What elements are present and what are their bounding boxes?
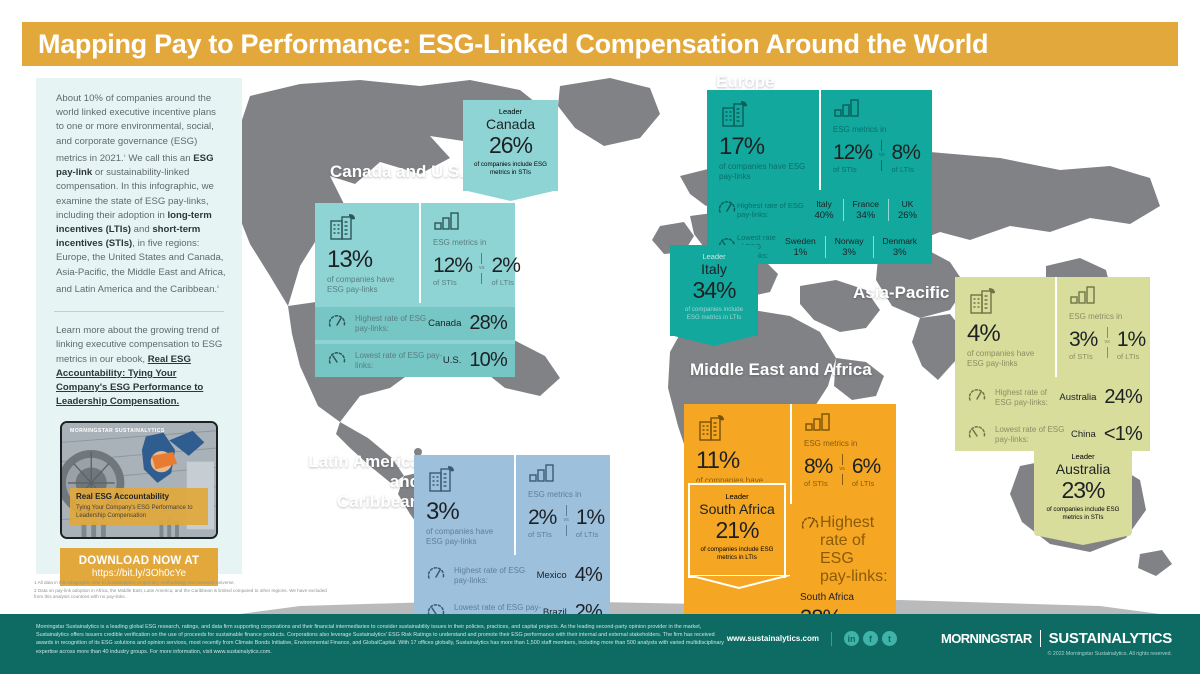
lti-pct: 1% xyxy=(1117,328,1145,351)
vs-line-top xyxy=(1107,327,1108,338)
lti-pct: 6% xyxy=(852,455,880,478)
vs-line-bottom xyxy=(842,474,843,485)
country-value: 3% xyxy=(835,247,864,258)
region-name-asia-pacific: Asia-Pacific xyxy=(853,283,949,302)
leader-country: Italy xyxy=(678,261,750,278)
sidebar-panel: About 10% of companies around the world … xyxy=(36,78,242,574)
lti-label: of LTIs xyxy=(576,530,604,539)
infographic-page: Mapping Pay to Performance: ESG-Linked C… xyxy=(0,0,1200,674)
leader-title: Leader xyxy=(678,252,750,261)
learn-more-text: Learn more about the growing trend of li… xyxy=(56,325,222,364)
vs-text: vs xyxy=(479,264,485,273)
intro-text-2: We call this an xyxy=(126,153,194,164)
lowest-country-item: Denmark 3% xyxy=(873,236,926,258)
vs-text: vs xyxy=(839,465,845,474)
ebook-title: Real ESG Accountability xyxy=(76,492,202,502)
highest-value: 28% xyxy=(469,312,507,335)
metrics-cell: ESG metrics in 8% of STIs vs 6% of LTIs xyxy=(790,404,896,504)
gauge-down-icon xyxy=(967,423,987,446)
highest-country: Mexico xyxy=(537,570,575,581)
vs-line-bottom xyxy=(881,160,882,171)
sti-col: 3% of STIs xyxy=(1069,328,1097,361)
highest-country-item: UK 26% xyxy=(888,199,926,221)
region-name-middle-east-africa: Middle East and Africa xyxy=(690,360,872,379)
companies-cell: 17% of companies have ESG pay-links xyxy=(707,90,819,190)
download-url: https://bit.ly/3Oh0cYe xyxy=(92,568,186,579)
gauge-icon-svg xyxy=(717,198,737,216)
leader-note: of companies include ESG metrics in STIs xyxy=(471,161,550,177)
footnote-1: 1 All data in this infographic refer to … xyxy=(34,580,334,587)
twitter-icon[interactable]: t xyxy=(882,631,897,646)
leader-badge-canada: Leader Canada 26% of companies include E… xyxy=(463,100,558,191)
facebook-icon[interactable]: f xyxy=(863,631,878,646)
lti-pct: 1% xyxy=(576,506,604,529)
sti-label: of STIs xyxy=(528,530,556,539)
metrics-in-label: ESG metrics in xyxy=(1069,312,1142,322)
sti-vs-lti: 2% of STIs vs 1% of LTIs xyxy=(528,503,602,539)
companies-pct: 4% xyxy=(967,321,1045,347)
metrics-cell: ESG metrics in 12% of STIs vs 2% of LTIs xyxy=(419,203,515,303)
companies-label: of companies have ESG pay-links xyxy=(719,162,809,182)
vs-separator: vs xyxy=(839,452,845,486)
vs-line-top xyxy=(566,505,567,516)
metrics-in-label: ESG metrics in xyxy=(433,238,507,248)
leader-country: South Africa xyxy=(698,501,776,518)
highest-rate-label: Highest rate of ESG pay-links: xyxy=(995,388,1059,408)
highest-country-item: France 34% xyxy=(843,199,888,221)
bar-chart-icon xyxy=(528,464,558,482)
region-name-latin-america: Latin America and Caribbean xyxy=(308,452,420,511)
sti-col: 2% of STIs xyxy=(528,506,556,539)
stat-panel-latin-america: 3% of companies have ESG pay-links ESG m… xyxy=(414,455,610,629)
companies-cell: 3% of companies have ESG pay-links xyxy=(414,455,514,555)
header-bar: Mapping Pay to Performance: ESG-Linked C… xyxy=(22,22,1178,66)
leader-value: 34% xyxy=(678,278,750,303)
morningstar-logo: MORNINGSTAR xyxy=(941,631,1032,646)
leader-note: of companies include ESG metrics in LTIs xyxy=(678,306,750,322)
highest-country-item: Italy 40% xyxy=(806,199,843,221)
sti-pct: 3% xyxy=(1069,328,1097,351)
vs-text: vs xyxy=(879,151,885,160)
highest-country: South Africa xyxy=(800,592,888,603)
lowest-value: <1% xyxy=(1104,423,1142,446)
building-leaf-icon xyxy=(967,286,997,316)
brand-divider xyxy=(1040,630,1041,647)
leader-title: Leader xyxy=(1042,452,1124,461)
lowest-country-item: Norway 3% xyxy=(825,236,873,258)
lti-col: 1% of LTIs xyxy=(1117,328,1145,361)
vs-line-bottom xyxy=(481,273,482,284)
lowest-country: China xyxy=(1071,429,1104,440)
highest-rate-row: Highest rate of ESG pay-links: Australia… xyxy=(955,381,1150,414)
badge-ribbon-tail xyxy=(688,575,790,589)
vs-line-bottom xyxy=(566,525,567,536)
building-leaf-icon xyxy=(426,464,456,494)
sti-pct: 12% xyxy=(833,141,872,164)
companies-pct: 3% xyxy=(426,499,504,525)
vs-text: vs xyxy=(1104,338,1110,347)
vs-line-top xyxy=(881,140,882,151)
highest-rate-label: Highest rate of ESG pay-links: xyxy=(454,566,537,586)
leader-value: 21% xyxy=(698,518,776,543)
badge-ribbon-tail xyxy=(1034,535,1132,545)
sidebar-learn-more: Learn more about the growing trend of li… xyxy=(36,312,242,409)
lti-col: 2% of LTIs xyxy=(492,254,520,287)
highest-countries: Italy 40% France 34% UK 26% xyxy=(806,199,927,221)
lowest-rate-label: Lowest rate of ESG pay-links: xyxy=(355,351,443,371)
sti-col: 12% of STIs xyxy=(433,254,472,287)
sidebar-intro: About 10% of companies around the world … xyxy=(36,78,242,301)
leader-badge-australia: Leader Australia 23% of companies includ… xyxy=(1034,445,1132,536)
highest-rate-row: Highest rate of ESG pay-links: Canada 28… xyxy=(315,307,515,340)
country-name: Italy xyxy=(815,199,834,209)
lowest-rate-label: Lowest rate of ESG pay-links: xyxy=(995,425,1071,445)
footnotes: 1 All data in this infographic refer to … xyxy=(34,580,334,602)
ebook-cover-image: MORNINGSTAR SUSTAINALYTICS Real ESG Acco… xyxy=(60,421,218,539)
building-leaf-icon xyxy=(719,99,749,129)
leader-country: Australia xyxy=(1042,461,1124,478)
region-label-canada-us: Canada and U.S. xyxy=(330,162,464,182)
highest-country: Australia xyxy=(1059,392,1104,403)
gauge-up-icon xyxy=(967,386,987,409)
region-label-asia-pacific: Asia-Pacific xyxy=(853,283,949,303)
badge-ribbon-tail xyxy=(463,190,558,201)
linkedin-icon[interactable]: in xyxy=(844,631,859,646)
panel-top-row: 17% of companies have ESG pay-links ESG … xyxy=(707,90,932,190)
intro-footnote-mark-2: 2 xyxy=(217,285,219,289)
highest-rate-label: Highest rate of ESG pay-links: xyxy=(355,314,428,334)
lowest-country: U.S. xyxy=(443,355,469,366)
highest-value: 24% xyxy=(1104,386,1142,409)
region-name-canada-us: Canada and U.S. xyxy=(330,162,464,181)
country-name: UK xyxy=(898,199,917,209)
metrics-in-label: ESG metrics in xyxy=(528,490,602,500)
country-name: Denmark xyxy=(883,236,917,246)
vs-separator: vs xyxy=(479,251,485,285)
country-value: 1% xyxy=(785,247,816,258)
vs-line-top xyxy=(842,454,843,465)
sti-col: 12% of STIs xyxy=(833,141,872,174)
vs-line-top xyxy=(481,253,482,264)
highest-value: 4% xyxy=(575,564,602,587)
leader-badge-italy: Leader Italy 34% of companies include ES… xyxy=(670,245,758,336)
metrics-cell: ESG metrics in 3% of STIs vs 1% of LTIs xyxy=(1055,277,1150,377)
ebook-logo: MORNINGSTAR SUSTAINALYTICS xyxy=(70,428,165,434)
gauge-icon-svg xyxy=(800,514,820,532)
highest-country: Canada xyxy=(428,318,469,329)
panel-top-row: 4% of companies have ESG pay-links ESG m… xyxy=(955,277,1150,377)
sti-label: of STIs xyxy=(1069,352,1097,361)
country-value: 26% xyxy=(898,210,917,221)
country-value: 3% xyxy=(883,247,917,258)
sti-vs-lti: 12% of STIs vs 2% of LTIs xyxy=(433,251,507,287)
gauge-down-icon xyxy=(327,349,347,372)
leader-country: Canada xyxy=(471,116,550,133)
sti-vs-lti: 12% of STIs vs 8% of LTIs xyxy=(833,138,924,174)
sti-pct: 2% xyxy=(528,506,556,529)
download-label: DOWNLOAD NOW AT xyxy=(79,555,200,567)
highest-rate-row: Highest rate of ESG pay-links: Mexico 4% xyxy=(414,559,610,592)
sti-pct: 8% xyxy=(804,455,832,478)
stat-panel-canada-us: 13% of companies have ESG pay-links ESG … xyxy=(315,203,515,377)
sti-col: 8% of STIs xyxy=(804,455,832,488)
region-label-latin-america: Latin America and Caribbean xyxy=(302,452,420,512)
country-name: Sweden xyxy=(785,236,816,246)
building-leaf-icon xyxy=(327,212,357,242)
vs-separator: vs xyxy=(1104,325,1110,359)
metrics-in-label: ESG metrics in xyxy=(833,125,924,135)
stat-panel-asia-pacific: 4% of companies have ESG pay-links ESG m… xyxy=(955,277,1150,451)
companies-label: of companies have ESG pay-links xyxy=(426,527,504,547)
companies-cell: 4% of companies have ESG pay-links xyxy=(955,277,1055,377)
ebook-title-band: Real ESG Accountability Tying Your Compa… xyxy=(70,488,208,525)
companies-label: of companies have ESG pay-links xyxy=(327,275,409,295)
lti-col: 1% of LTIs xyxy=(576,506,604,539)
building-leaf-icon xyxy=(696,413,726,443)
companies-label: of companies have ESG pay-links xyxy=(967,349,1045,369)
country-name: France xyxy=(853,199,879,209)
leader-note: of companies include ESG metrics in LTIs xyxy=(698,546,776,562)
country-value: 34% xyxy=(853,210,879,221)
lti-label: of LTIs xyxy=(1117,352,1145,361)
gauge-up-icon xyxy=(800,514,820,537)
vs-text: vs xyxy=(563,516,569,525)
footnote-2: 2 Data on pay-link adoption in Africa, t… xyxy=(34,588,334,601)
leader-badge-south-africa: Leader South Africa 21% of companies inc… xyxy=(688,483,786,578)
companies-pct: 11% xyxy=(696,448,780,474)
footer-right-block: www.sustainalytics.com in f t MORNINGSTA… xyxy=(727,630,1172,657)
sti-vs-lti: 8% of STIs vs 6% of LTIs xyxy=(804,452,888,488)
metrics-in-label: ESG metrics in xyxy=(804,439,888,449)
gauge-up-icon xyxy=(426,564,446,587)
gauge-up-icon xyxy=(327,312,347,335)
vs-separator: vs xyxy=(563,503,569,537)
highest-rate-label: Highest rate of ESG pay-links: xyxy=(737,201,806,219)
companies-pct: 13% xyxy=(327,247,409,273)
footer-url[interactable]: www.sustainalytics.com xyxy=(727,634,819,643)
lti-col: 6% of LTIs xyxy=(852,455,880,488)
sti-label: of STIs xyxy=(804,479,832,488)
lti-col: 8% of LTIs xyxy=(892,141,920,174)
sti-label: of STIs xyxy=(833,165,872,174)
highest-rate-head: Highest rate of ESG pay-links: xyxy=(800,514,888,586)
region-name-europe: Europe xyxy=(716,72,775,91)
footer-divider xyxy=(831,632,832,646)
metrics-cell: ESG metrics in 2% of STIs vs 1% of LTIs xyxy=(514,455,610,555)
ebook-subtitle: Tying Your Company's ESG Performance to … xyxy=(76,504,202,520)
country-name: Norway xyxy=(835,236,864,246)
region-label-middle-east-africa: Middle East and Africa xyxy=(690,360,872,380)
companies-pct: 17% xyxy=(719,134,809,160)
gauge-icon-svg xyxy=(327,349,347,367)
bar-chart-icon xyxy=(433,212,463,230)
footer-description: Morningstar Sustainalytics is a leading … xyxy=(36,623,726,656)
social-links: in f t xyxy=(844,631,897,646)
leader-title: Leader xyxy=(471,107,550,116)
gauge-up-icon xyxy=(717,198,737,221)
country-value: 40% xyxy=(815,210,834,221)
bar-chart-icon xyxy=(833,99,863,117)
brand-lockup: MORNINGSTAR SUSTAINALYTICS xyxy=(941,630,1172,647)
sti-pct: 12% xyxy=(433,254,472,277)
lowest-countries: Sweden 1% Norway 3% Denmark 3% xyxy=(776,236,926,258)
lti-label: of LTIs xyxy=(492,278,520,287)
leader-title: Leader xyxy=(698,492,776,501)
lowest-value: 10% xyxy=(469,349,507,372)
lti-label: of LTIs xyxy=(852,479,880,488)
highest-rate-row-europe: Highest rate of ESG pay-links: Italy 40%… xyxy=(707,194,932,225)
leader-value: 23% xyxy=(1042,478,1124,503)
leader-note: of companies include ESG metrics in STIs xyxy=(1042,506,1124,522)
leader-value: 26% xyxy=(471,133,550,158)
panel-top-row: 3% of companies have ESG pay-links ESG m… xyxy=(414,455,610,555)
vs-line-bottom xyxy=(1107,347,1108,358)
gauge-icon-svg xyxy=(426,564,446,582)
gauge-icon-svg xyxy=(967,386,987,404)
copyright-text: © 2022 Morningstar Sustainalytics. All r… xyxy=(727,651,1172,657)
badge-ribbon-tail xyxy=(670,335,758,346)
highest-rate-label: Highest rate of ESG pay-links: xyxy=(820,514,888,586)
lowest-country-item: Sweden 1% xyxy=(776,236,825,258)
page-title: Mapping Pay to Performance: ESG-Linked C… xyxy=(22,29,988,60)
lowest-rate-row: Lowest rate of ESG pay-links: U.S. 10% xyxy=(315,344,515,377)
panel-top-row: 13% of companies have ESG pay-links ESG … xyxy=(315,203,515,303)
metrics-cell: ESG metrics in 12% of STIs vs 8% of LTIs xyxy=(819,90,932,190)
sti-label: of STIs xyxy=(433,278,472,287)
gauge-icon-svg xyxy=(967,423,987,441)
footer-logos-row: www.sustainalytics.com in f t MORNINGSTA… xyxy=(727,630,1172,647)
companies-cell: 13% of companies have ESG pay-links xyxy=(315,203,419,303)
lti-label: of LTIs xyxy=(892,165,920,174)
intro-text-4: and xyxy=(131,224,152,235)
bar-chart-icon xyxy=(804,413,834,431)
sustainalytics-logo: SUSTAINALYTICS xyxy=(1049,630,1172,647)
region-label-europe: Europe xyxy=(716,72,775,92)
footer-bar: Morningstar Sustainalytics is a leading … xyxy=(0,614,1200,674)
lti-pct: 8% xyxy=(892,141,920,164)
bar-chart-icon xyxy=(1069,286,1099,304)
lti-pct: 2% xyxy=(492,254,520,277)
stat-panel-europe: 17% of companies have ESG pay-links ESG … xyxy=(707,90,932,264)
sti-vs-lti: 3% of STIs vs 1% of LTIs xyxy=(1069,325,1142,361)
gauge-icon-svg xyxy=(327,312,347,330)
vs-separator: vs xyxy=(879,138,885,172)
